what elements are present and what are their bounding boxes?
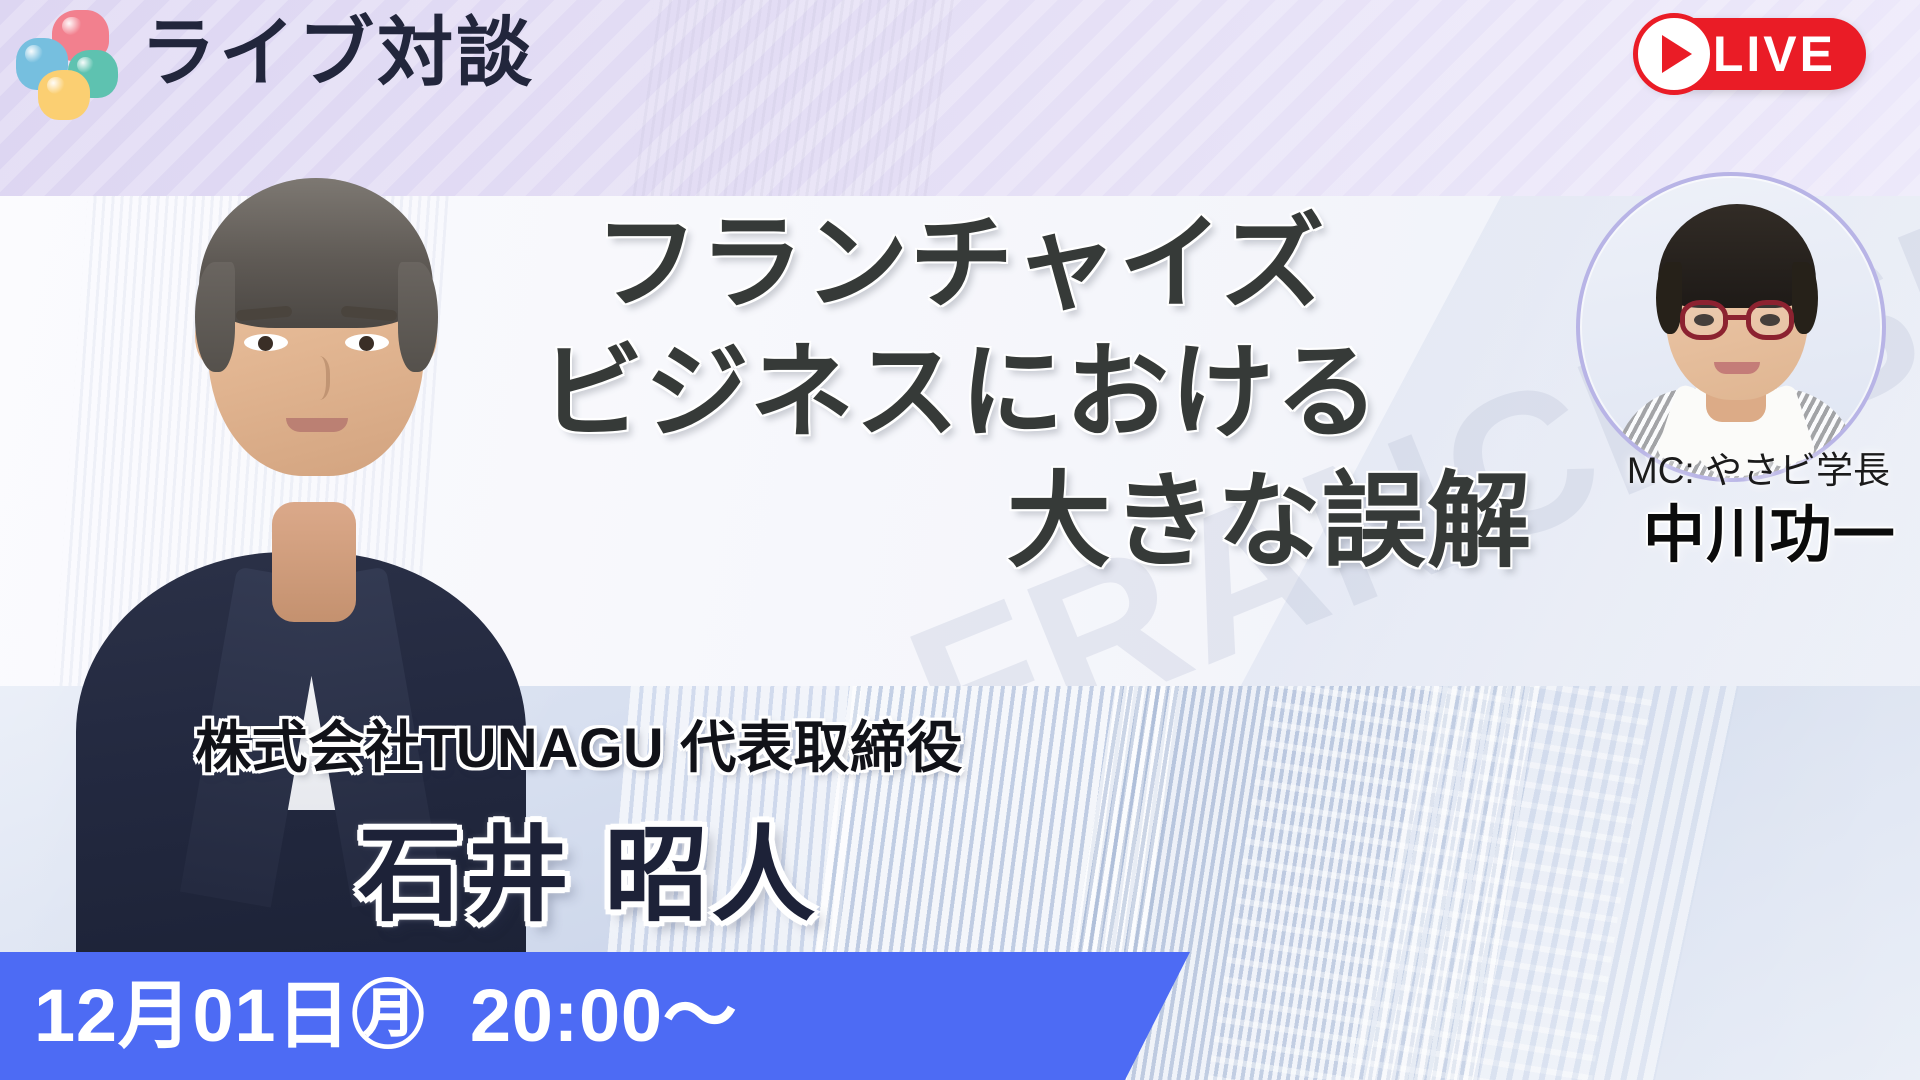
mc-block: MC: やさビ学長 中川功一	[1566, 172, 1896, 482]
main-title: フランチャイズ ビジネスにおける 大きな誤解	[380, 200, 1540, 587]
mc-portrait	[1576, 172, 1886, 482]
speaker-eye-right	[345, 334, 389, 351]
title-line-1: フランチャイズ	[380, 200, 1540, 329]
speaker-hair-side-left	[195, 262, 235, 372]
speaker-organization: 株式会社TUNAGU 代表取締役	[195, 703, 963, 784]
title-line-2: ビジネスにおける	[380, 329, 1540, 458]
speaker-hair-side-right	[398, 262, 438, 372]
speaker-neck	[272, 502, 356, 622]
schedule-date: 12月01日㊊	[34, 979, 426, 1053]
speaker-name: 石井 昭人	[358, 790, 819, 941]
mc-hair-side-left	[1656, 262, 1682, 334]
speaker-nose	[304, 356, 330, 400]
live-badge: LIVE	[1637, 18, 1866, 90]
speaker-eye-left	[244, 334, 288, 351]
bubble-yellow-icon	[38, 70, 90, 120]
mc-glasses-bridge	[1726, 315, 1748, 320]
live-badge-label: LIVE	[1713, 29, 1836, 79]
speaker-mouth	[286, 418, 348, 432]
live-play-circle	[1633, 13, 1715, 95]
speech-bubbles-logo	[14, 8, 124, 118]
mc-glasses-right-lens	[1746, 300, 1794, 340]
brand-title: ライブ対談	[140, 16, 535, 92]
schedule-time: 20:00〜	[470, 979, 738, 1053]
mc-mouth	[1714, 362, 1760, 374]
mc-glasses-left-lens	[1680, 300, 1728, 340]
mc-hair-side-right	[1792, 262, 1818, 334]
banner-stage: ライブ対談 LIVE FRANCHISE フランチャイズ ビジネスにおける 大き…	[0, 0, 1920, 1080]
schedule-bar: 12月01日㊊ 20:00〜	[0, 952, 1190, 1080]
header-building-ghost	[621, 0, 960, 196]
mc-name: 中川功一	[1643, 484, 1896, 574]
play-icon	[1662, 35, 1692, 73]
title-line-3: 大きな誤解	[380, 458, 1540, 587]
